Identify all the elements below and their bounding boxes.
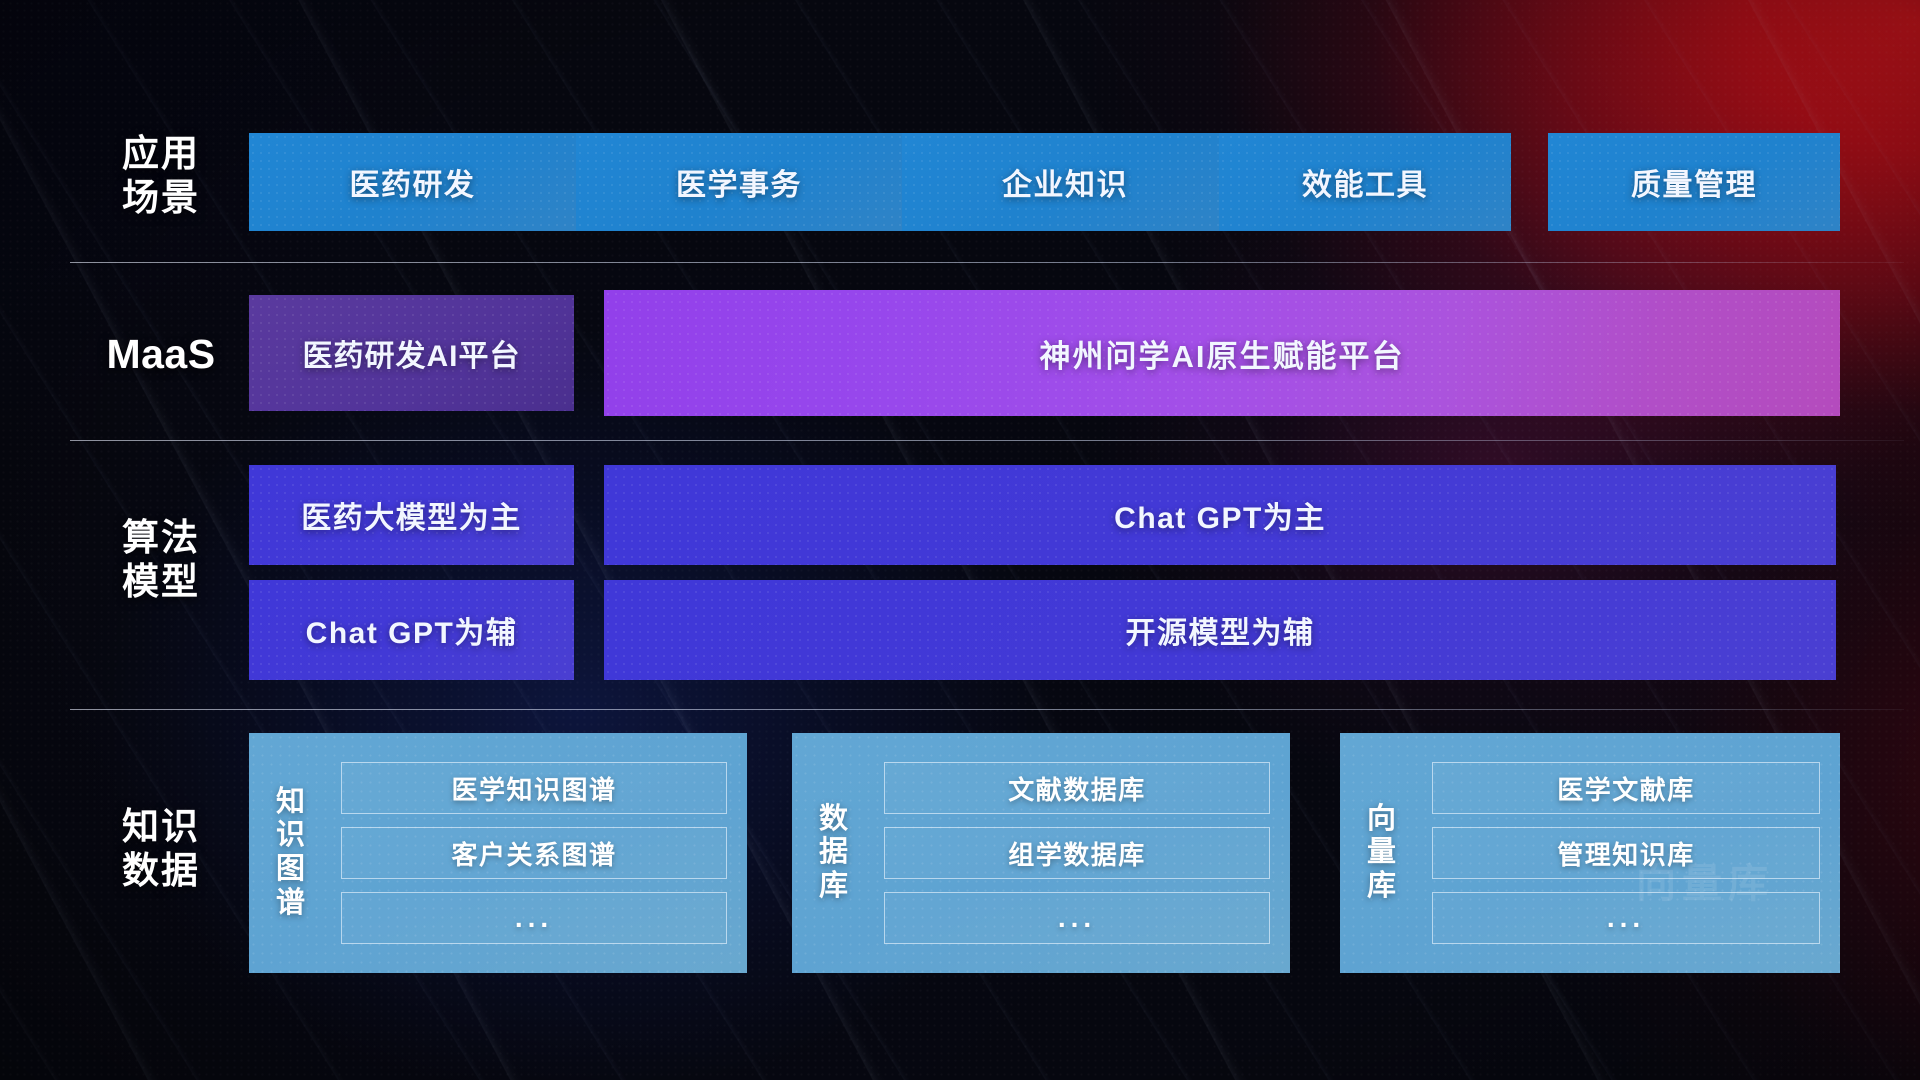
row-label-algorithm-line2: 模型 [86, 560, 236, 604]
divider-maas-algorithm [70, 440, 1904, 441]
app-scenario-card-2[interactable]: 医学事务 [576, 133, 902, 231]
vlabel-char: 识 [276, 819, 306, 853]
knowledge-group-3-items: 医学文献库 管理知识库 ... [1414, 762, 1826, 944]
app-scenario-card-4[interactable]: 效能工具 [1219, 133, 1511, 231]
divider-algorithm-knowledge [70, 709, 1904, 710]
knowledge-group-1-items: 医学知识图谱 客户关系图谱 ... [323, 762, 733, 944]
row-label-knowledge-line1: 知识 [86, 805, 236, 849]
algorithm-primary-left-card[interactable]: 医药大模型为主 [249, 465, 574, 565]
algorithm-secondary-left-card[interactable]: Chat GPT为辅 [249, 580, 574, 680]
knowledge-group-2-vertical-label: 数 据 库 [802, 803, 866, 904]
algorithm-secondary-right-card[interactable]: 开源模型为辅 [604, 580, 1836, 680]
knowledge-item[interactable]: 管理知识库 [1432, 827, 1820, 879]
knowledge-group-1-vertical-label: 知 识 图 谱 [259, 786, 323, 921]
knowledge-item[interactable]: 医学知识图谱 [341, 762, 727, 814]
vlabel-char: 库 [819, 870, 849, 904]
algorithm-primary-right-card[interactable]: Chat GPT为主 [604, 465, 1836, 565]
algorithm-secondary-right-label: 开源模型为辅 [1126, 608, 1315, 652]
knowledge-group-vector-store[interactable]: 向量库 向 量 库 医学文献库 管理知识库 ... [1340, 733, 1840, 973]
app-scenario-label-3: 企业知识 [1002, 160, 1128, 204]
divider-application-maas [70, 262, 1904, 263]
app-scenario-card-1[interactable]: 医药研发 [249, 133, 576, 231]
knowledge-item[interactable]: 客户关系图谱 [341, 827, 727, 879]
maas-platform-card[interactable]: 神州问学AI原生赋能平台 [604, 290, 1840, 416]
vlabel-char: 量 [1367, 836, 1397, 870]
vlabel-char: 库 [1367, 870, 1397, 904]
row-label-knowledge-line2: 数据 [86, 849, 236, 893]
row-label-maas-line1: MaaS [86, 330, 236, 378]
app-scenario-label-1: 医药研发 [350, 160, 476, 204]
row-label-application-line1: 应用 [86, 132, 236, 176]
algorithm-primary-left-label: 医药大模型为主 [301, 493, 522, 537]
architecture-diagram: 应用 场景 MaaS 算法 模型 知识 数据 医药研发 医学事务 企业知识 效能… [0, 0, 1920, 1080]
knowledge-group-database[interactable]: 数 据 库 文献数据库 组学数据库 ... [792, 733, 1290, 973]
row-label-application-line2: 场景 [86, 176, 236, 220]
knowledge-group-2-items: 文献数据库 组学数据库 ... [866, 762, 1276, 944]
knowledge-item-more[interactable]: ... [884, 892, 1270, 944]
vlabel-char: 据 [819, 836, 849, 870]
row-label-knowledge: 知识 数据 [86, 805, 236, 892]
app-scenario-label-2: 医学事务 [676, 160, 802, 204]
row-label-maas: MaaS [86, 330, 236, 378]
vlabel-char: 图 [276, 853, 306, 887]
vlabel-char: 知 [276, 786, 306, 820]
knowledge-item[interactable]: 文献数据库 [884, 762, 1270, 814]
knowledge-group-knowledge-graph[interactable]: 知 识 图 谱 医学知识图谱 客户关系图谱 ... [249, 733, 747, 973]
knowledge-item[interactable]: 医学文献库 [1432, 762, 1820, 814]
maas-left-card[interactable]: 医药研发AI平台 [249, 295, 574, 411]
vlabel-char: 数 [819, 803, 849, 837]
knowledge-item-more[interactable]: ... [341, 892, 727, 944]
app-scenario-card-3[interactable]: 企业知识 [902, 133, 1228, 231]
vlabel-char: 谱 [276, 887, 306, 921]
vlabel-char: 向 [1367, 803, 1397, 837]
app-scenario-label-4: 效能工具 [1302, 160, 1428, 204]
maas-platform-label: 神州问学AI原生赋能平台 [1040, 331, 1405, 376]
knowledge-group-3-vertical-label: 向 量 库 [1350, 803, 1414, 904]
knowledge-item-more[interactable]: ... [1432, 892, 1820, 944]
maas-left-label: 医药研发AI平台 [303, 331, 521, 375]
row-label-algorithm-line1: 算法 [86, 516, 236, 560]
row-label-algorithm: 算法 模型 [86, 516, 236, 603]
algorithm-primary-right-label: Chat GPT为主 [1114, 493, 1326, 537]
knowledge-item[interactable]: 组学数据库 [884, 827, 1270, 879]
app-scenario-card-5[interactable]: 质量管理 [1548, 133, 1840, 231]
algorithm-secondary-left-label: Chat GPT为辅 [306, 608, 518, 652]
row-label-application: 应用 场景 [86, 132, 236, 219]
app-scenario-label-5: 质量管理 [1631, 160, 1757, 204]
